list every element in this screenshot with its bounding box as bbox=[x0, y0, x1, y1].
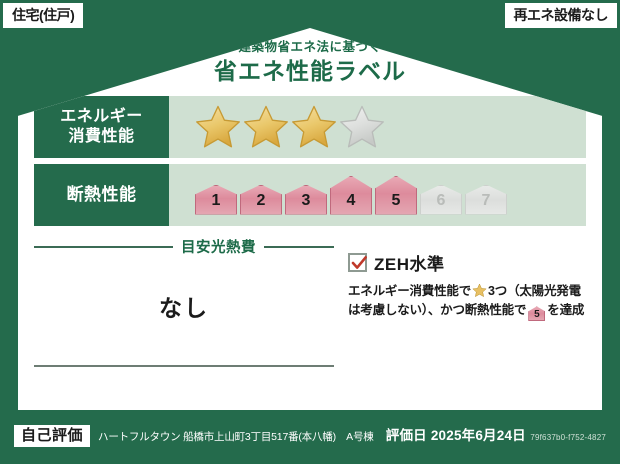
grade-house-3: 3 bbox=[285, 185, 327, 215]
grade-scale: 1234567 bbox=[195, 176, 507, 215]
utility-cost-panel: 目安光熱費 なし bbox=[34, 236, 334, 367]
star-rating bbox=[195, 104, 385, 150]
zeh-heading: ZEH水準 bbox=[348, 250, 586, 275]
zeh-desc-stars: 3つ（太陽光発電 bbox=[488, 284, 581, 298]
grade-house-value: 6 bbox=[437, 193, 446, 215]
grade-house-1: 1 bbox=[195, 185, 237, 215]
energy-performance-value bbox=[169, 96, 586, 158]
grade-house-6: 6 bbox=[420, 185, 462, 215]
badge-building-type: 住宅(住戸) bbox=[3, 3, 83, 28]
grade-house-value: 5 bbox=[392, 193, 401, 215]
star-icon-empty bbox=[339, 104, 385, 150]
energy-label-line2: 消費性能 bbox=[68, 127, 134, 147]
grade-house-value: 7 bbox=[482, 193, 491, 215]
badge-renewable-equipment: 再エネ設備なし bbox=[505, 3, 618, 28]
grade-house-7: 7 bbox=[465, 185, 507, 215]
utility-cost-bottom-rule bbox=[34, 365, 334, 367]
evaluation-id: 79f637b0-f752-4827 bbox=[530, 433, 606, 442]
zeh-desc-part2: は考慮しない）、かつ断熱性能で bbox=[348, 303, 526, 317]
lower-section: 目安光熱費 なし ZEH水準 エネルギー消費性能で3つ（太陽光発電 bbox=[34, 236, 586, 367]
header-block: 建築物省エネ法に基づく 省エネ性能ラベル bbox=[18, 40, 602, 86]
star-icon bbox=[472, 283, 487, 298]
utility-cost-heading-text: 目安光熱費 bbox=[181, 236, 256, 257]
grade-house-4: 4 bbox=[330, 176, 372, 215]
page-title: 省エネ性能ラベル bbox=[18, 57, 602, 86]
star-icon-filled bbox=[291, 104, 337, 150]
grade-house-5: 5 bbox=[375, 176, 417, 215]
label-root: 住宅(住戸) 再エネ設備なし 建築物省エネ法に基づく 省エネ性能ラベル エネルギ… bbox=[0, 0, 620, 464]
performance-section: エネルギー 消費性能 断熱性能 1234567 bbox=[34, 96, 586, 226]
insulation-performance-label: 断熱性能 bbox=[34, 164, 169, 226]
header-subtitle: 建築物省エネ法に基づく bbox=[18, 40, 602, 55]
property-address: ハートフルタウン 船橋市上山町3丁目517番(本八幡) A号棟 bbox=[98, 429, 374, 444]
star-icon-filled bbox=[243, 104, 289, 150]
zeh-desc-grade-value: 5 bbox=[528, 306, 545, 323]
utility-cost-heading: 目安光熱費 bbox=[34, 236, 334, 257]
evaluation-date: 評価日 2025年6月24日 bbox=[386, 428, 526, 443]
zeh-desc-part1: エネルギー消費性能で bbox=[348, 284, 471, 298]
grade-house-value: 2 bbox=[257, 193, 266, 215]
insulation-performance-row: 断熱性能 1234567 bbox=[34, 164, 586, 226]
insulation-performance-value: 1234567 bbox=[169, 164, 586, 226]
star-icon-filled bbox=[195, 104, 241, 150]
utility-cost-value: なし bbox=[34, 289, 334, 323]
footer-right-block: 評価日 2025年6月24日 79f637b0-f752-4827 bbox=[386, 426, 606, 446]
check-icon bbox=[351, 255, 368, 272]
heading-rule-left bbox=[34, 246, 173, 248]
energy-performance-label: エネルギー 消費性能 bbox=[34, 96, 169, 158]
self-assessment-badge: 自己評価 bbox=[14, 425, 90, 447]
footer: 自己評価 ハートフルタウン 船橋市上山町3丁目517番(本八幡) A号棟 評価日… bbox=[0, 414, 620, 458]
zeh-panel: ZEH水準 エネルギー消費性能で3つ（太陽光発電 は考慮しない）、かつ断熱性能で… bbox=[334, 236, 586, 367]
grade-house-value: 1 bbox=[212, 193, 221, 215]
zeh-desc-grade-chip: 5 bbox=[528, 306, 545, 321]
house-panel: 建築物省エネ法に基づく 省エネ性能ラベル エネルギー 消費性能 断熱性能 bbox=[18, 28, 602, 410]
insulation-label-text: 断熱性能 bbox=[67, 184, 137, 205]
zeh-desc-part3: を達成 bbox=[547, 303, 584, 317]
energy-label-line1: エネルギー bbox=[60, 107, 143, 127]
zeh-checkbox[interactable] bbox=[348, 253, 367, 272]
grade-house-2: 2 bbox=[240, 185, 282, 215]
zeh-description: エネルギー消費性能で3つ（太陽光発電 は考慮しない）、かつ断熱性能で5を達成 bbox=[348, 282, 586, 321]
heading-rule-right bbox=[264, 246, 334, 248]
grade-house-value: 3 bbox=[302, 193, 311, 215]
grade-house-value: 4 bbox=[347, 193, 356, 215]
energy-performance-row: エネルギー 消費性能 bbox=[34, 96, 586, 158]
zeh-title: ZEH水準 bbox=[374, 250, 445, 275]
